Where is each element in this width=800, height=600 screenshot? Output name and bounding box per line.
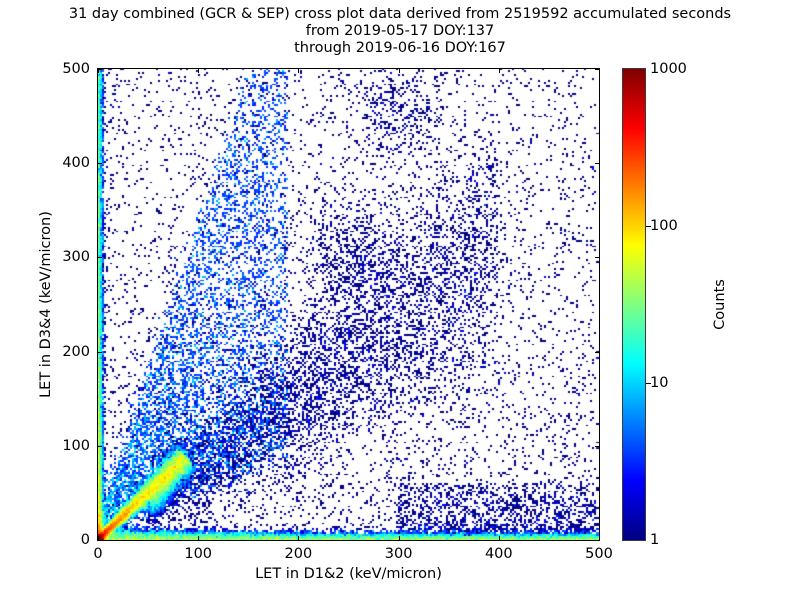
colorbar bbox=[622, 68, 646, 541]
figure-title-line-1: 31 day combined (GCR & SEP) cross plot d… bbox=[0, 6, 800, 23]
y-tick-mark-right bbox=[595, 257, 599, 258]
y-tick-mark bbox=[98, 540, 102, 541]
figure-title-line-3: through 2019-06-16 DOY:167 bbox=[0, 40, 800, 57]
x-tick-mark bbox=[399, 536, 400, 540]
y-tick-mark bbox=[98, 163, 102, 164]
y-tick-label: 200 bbox=[62, 344, 90, 360]
x-tick-mark-top bbox=[499, 69, 500, 73]
figure-title: 31 day combined (GCR & SEP) cross plot d… bbox=[0, 6, 800, 57]
plot-frame bbox=[97, 68, 600, 541]
colorbar-tick-label: 100 bbox=[650, 218, 678, 234]
x-tick-mark bbox=[198, 536, 199, 540]
x-tick-label: 0 bbox=[93, 546, 102, 562]
x-tick-mark bbox=[499, 536, 500, 540]
y-tick-label: 300 bbox=[62, 249, 90, 265]
y-tick-mark-right bbox=[595, 540, 599, 541]
x-tick-mark-top bbox=[599, 69, 600, 73]
colorbar-tick-label: 1000 bbox=[650, 61, 687, 77]
x-tick-mark bbox=[298, 536, 299, 540]
y-tick-label: 0 bbox=[81, 532, 90, 548]
y-tick-label: 400 bbox=[62, 155, 90, 171]
x-tick-mark-top bbox=[198, 69, 199, 73]
x-tick-label: 100 bbox=[184, 546, 212, 562]
x-tick-label: 300 bbox=[385, 546, 413, 562]
colorbar-label: Counts bbox=[712, 68, 728, 541]
y-tick-mark bbox=[98, 257, 102, 258]
x-tick-mark bbox=[599, 536, 600, 540]
y-tick-label: 100 bbox=[62, 438, 90, 454]
let-heatmap-canvas bbox=[98, 69, 599, 540]
figure-title-line-2: from 2019-05-17 DOY:137 bbox=[0, 23, 800, 40]
x-tick-label: 200 bbox=[285, 546, 313, 562]
y-tick-mark-right bbox=[595, 69, 599, 70]
y-tick-mark bbox=[98, 352, 102, 353]
let-cross-plot-figure: 31 day combined (GCR & SEP) cross plot d… bbox=[0, 0, 800, 600]
x-tick-label: 400 bbox=[485, 546, 513, 562]
x-axis-label: LET in D1&2 (keV/micron) bbox=[97, 566, 600, 582]
colorbar-tick-label: 1 bbox=[650, 532, 659, 548]
colorbar-tick-label: 10 bbox=[650, 375, 668, 391]
y-tick-mark bbox=[98, 69, 102, 70]
x-tick-mark-top bbox=[298, 69, 299, 73]
y-tick-mark-right bbox=[595, 352, 599, 353]
colorbar-gradient bbox=[623, 69, 645, 540]
y-axis-label: LET in D3&4 (keV/micron) bbox=[38, 68, 54, 541]
y-tick-mark-right bbox=[595, 446, 599, 447]
x-tick-mark-top bbox=[399, 69, 400, 73]
y-tick-mark bbox=[98, 446, 102, 447]
x-tick-label: 500 bbox=[585, 546, 613, 562]
y-tick-mark-right bbox=[595, 163, 599, 164]
y-tick-label: 500 bbox=[62, 61, 90, 77]
